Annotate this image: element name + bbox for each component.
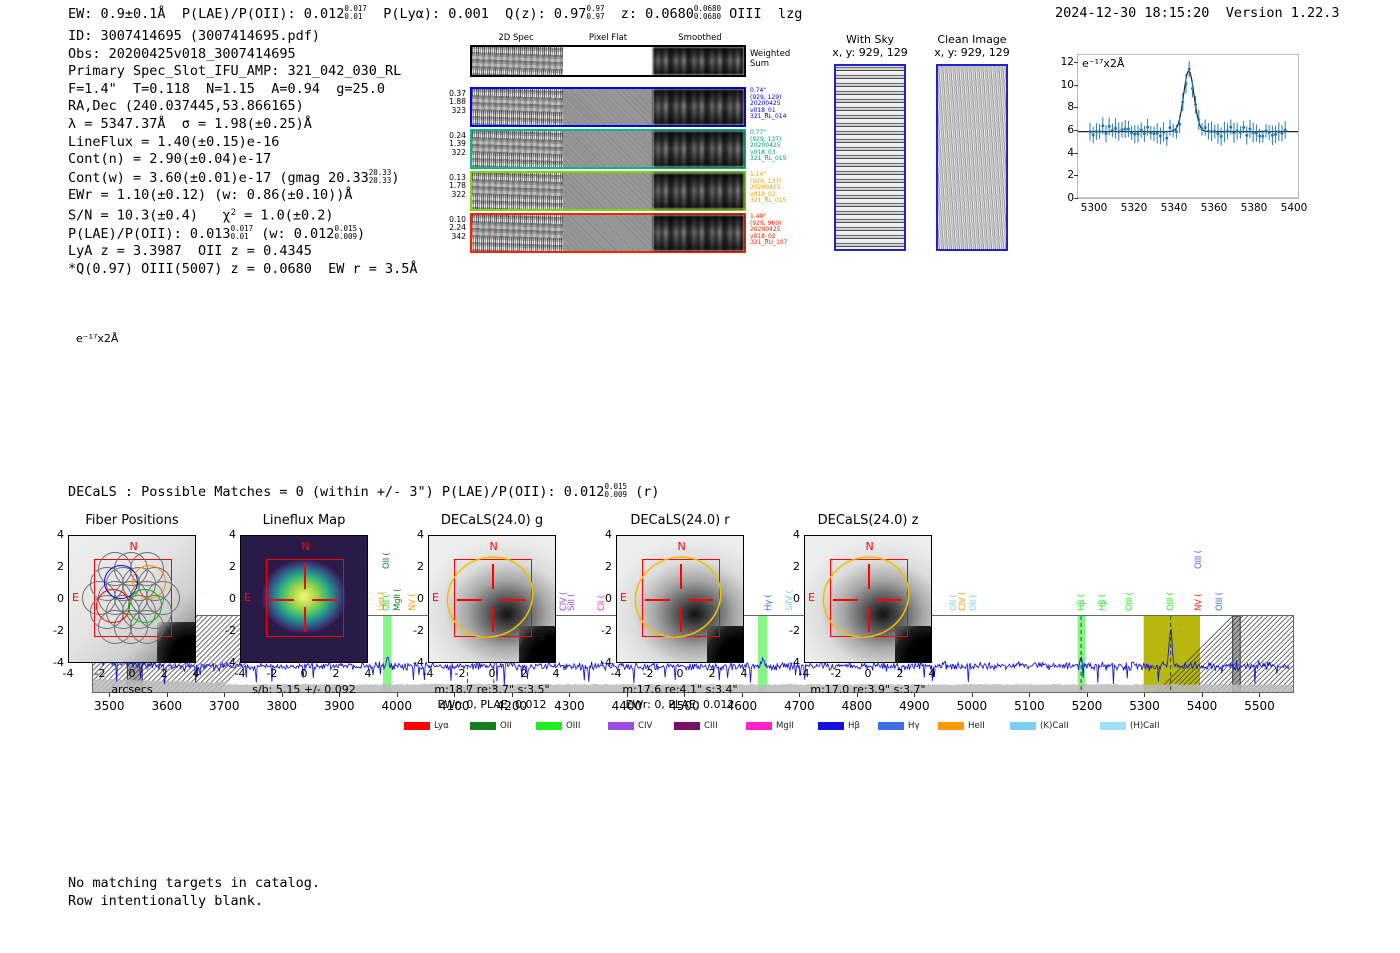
line-zoom-xtick: 5380 xyxy=(1241,202,1268,214)
fiber-2dspec xyxy=(472,173,563,209)
fiber-meta-right: 1.40"(929, 969)20200425v018_02321_RU_107 xyxy=(750,214,805,247)
footer-line-1: No matching targets in catalog. xyxy=(68,874,320,892)
info-ewr: EWr = 1.10(±0.12) (w: 0.86(±0.10))Å xyxy=(68,187,418,205)
cutout-ytick: 2 xyxy=(218,560,236,573)
emission-line-zoom-plot: e⁻¹⁷x2Å 02468101253005320534053605380540… xyxy=(1032,46,1307,231)
cutout-ytick: 0 xyxy=(594,592,612,605)
cutout-ytick: 0 xyxy=(218,592,236,605)
cutout-ytick: 2 xyxy=(46,560,64,573)
header-plae-label: P(LAE)/P(OII): 0.012 xyxy=(182,6,345,22)
sky-panel-title: With Sky xyxy=(828,33,912,46)
cutout-xtick: 0 xyxy=(860,667,876,680)
line-zoom-ytick-mark xyxy=(1074,107,1078,108)
fiber-2dspec xyxy=(472,89,563,125)
info-primary-spec: Primary Spec_Slot_IFU_AMP: 321_042_030_R… xyxy=(68,63,418,81)
line-zoom-units: e⁻¹⁷x2Å xyxy=(1082,57,1124,70)
timestamp: 2024-12-30 18:15:20 xyxy=(1055,5,1209,21)
fiber-stats-left: 0.371.88323 xyxy=(438,90,466,115)
footer-note: No matching targets in catalog. Row inte… xyxy=(68,874,320,910)
cutout-title: DECaLS(24.0) z xyxy=(784,513,952,528)
spec2d-fiber-row xyxy=(470,87,746,127)
cutout-axes: NE xyxy=(804,535,932,663)
cutout-title: DECaLS(24.0) r xyxy=(596,513,764,528)
cutout-xtick: 4 xyxy=(924,667,940,680)
cutout-xtick: -2 xyxy=(92,667,108,680)
cutout-xtick: 4 xyxy=(736,667,752,680)
cutout-sub1: m:18.7 re:3.7" s:3.5" xyxy=(400,683,584,696)
line-zoom-ytick: 12 xyxy=(1048,56,1074,68)
line-zoom-ytick: 4 xyxy=(1048,147,1074,159)
spec2d-fiber-row xyxy=(470,129,746,169)
cutout-xtick: 0 xyxy=(296,667,312,680)
cutout-xtick: -2 xyxy=(264,667,280,680)
fiber-circle-highlight xyxy=(96,589,130,623)
line-zoom-ytick-mark xyxy=(1074,175,1078,176)
cutout-ytick: -2 xyxy=(218,624,236,637)
compass-east: E xyxy=(244,591,251,604)
compass-east: E xyxy=(72,591,79,604)
cutout-xtick: -2 xyxy=(828,667,844,680)
info-obs: Obs: 20200425v018_3007414695 xyxy=(68,46,418,64)
fiber-stats-left: 0.102.24342 xyxy=(438,216,466,241)
line-zoom-ytick-mark xyxy=(1074,153,1078,154)
header-z: z: 0.0680 xyxy=(621,6,694,22)
header-z-errors: 0.06800.0680 xyxy=(694,5,721,21)
cutout-title: Fiber Positions xyxy=(48,513,216,528)
cutout-row: Fiber PositionsNE-4-2024420-2-4arcsecsLi… xyxy=(0,505,1400,735)
cutout-ytick: -4 xyxy=(46,656,64,669)
source-ellipse xyxy=(805,536,931,662)
fiber-pixelflat xyxy=(563,173,654,209)
line-zoom-xtick: 5320 xyxy=(1121,202,1148,214)
cutout-ytick: -4 xyxy=(594,656,612,669)
cutout-xtick: 4 xyxy=(360,667,376,680)
compass-north: N xyxy=(129,540,137,553)
cutout-sub1: m:17.0 re:3.9" s:3.7" xyxy=(776,683,960,696)
cutout-xtick: 4 xyxy=(188,667,204,680)
cutout-sub1: m:17.6 re:4.1" s:3.4" xyxy=(588,683,772,696)
spec2d-column-header-2: Smoothed xyxy=(664,33,736,43)
cutout-xtick: 2 xyxy=(328,667,344,680)
fiber-smoothed xyxy=(653,173,744,209)
spec2d-fiber-row xyxy=(470,171,746,211)
cutout-xtick: 0 xyxy=(484,667,500,680)
line-zoom-xtick: 5300 xyxy=(1081,202,1108,214)
fiber-meta-right: 0.74"(929, 129)20200425v018_01321_RL_014 xyxy=(750,88,805,121)
header-qz: Q(z): 0.97 xyxy=(505,6,586,22)
cutout-ytick: -4 xyxy=(218,656,236,669)
compass-north: N xyxy=(301,540,309,553)
fiber-2dspec xyxy=(472,131,563,167)
fiber-meta-right: 0.77"(929, 137)20200425v018_03321_RL_015 xyxy=(750,130,805,163)
cutout-ytick: 2 xyxy=(782,560,800,573)
cutout-xtick: 4 xyxy=(548,667,564,680)
info-cont-w: Cont(w) = 3.60(±0.01)e-17 (gmag 20.3320.… xyxy=(68,169,418,187)
cutout-ytick: 4 xyxy=(594,528,612,541)
header-ew: EW: 0.9±0.1Å xyxy=(68,6,166,22)
line-zoom-ytick-mark xyxy=(1074,130,1078,131)
fiber-2dspec xyxy=(472,215,563,251)
cutout-ytick: 4 xyxy=(218,528,236,541)
gmag-errors: 20.3320.33 xyxy=(369,169,392,185)
crosshair-left xyxy=(269,599,294,601)
spec2d-column-header-1: Pixel Flat xyxy=(572,33,644,43)
cutout-xtick: 0 xyxy=(124,667,140,680)
fiber-stats-left: 0.131.78322 xyxy=(438,174,466,199)
info-id: ID: 3007414695 (3007414695.pdf) xyxy=(68,28,418,46)
footer-line-2: Row intentionally blank. xyxy=(68,892,320,910)
info-seeing: F=1.4" T=0.118 N=1.15 A=0.94 g=25.0 xyxy=(68,81,418,99)
header-timestamp-block: 2024-12-30 18:15:20 Version 1.22.3 xyxy=(1055,5,1340,21)
decals-plae-errors: 0.0150.009 xyxy=(604,483,627,499)
line-zoom-ytick-mark xyxy=(1074,85,1078,86)
info-plae: P(LAE)/P(OII): 0.0130.0170.01 (w: 0.0120… xyxy=(68,225,418,243)
fiber-pixelflat xyxy=(563,89,654,125)
line-zoom-ytick: 2 xyxy=(1048,169,1074,181)
cutout-axes: NE xyxy=(240,535,368,663)
sky-panel-title: Clean Image xyxy=(930,33,1014,46)
cutout-ytick: 2 xyxy=(406,560,424,573)
sky-panel-coords: x, y: 929, 129 xyxy=(828,46,912,59)
cutout-ytick: -4 xyxy=(406,656,424,669)
sky-panel-coords: x, y: 929, 129 xyxy=(930,46,1014,59)
sky-panel-image xyxy=(834,64,906,251)
spec2d-fiber-row xyxy=(470,213,746,253)
cutout-axes: NE xyxy=(428,535,556,663)
cutout-ytick: -2 xyxy=(782,624,800,637)
info-redshifts: LyA z = 3.3987 OII z = 0.4345 xyxy=(68,243,418,261)
line-zoom-svg xyxy=(1078,55,1298,198)
crosshair-right xyxy=(312,599,337,601)
fiber-circle-highlight xyxy=(128,589,162,623)
cutout-sub1: s/b: 5.15 +/- 0.092 xyxy=(212,683,396,696)
cutout-xtick: 2 xyxy=(516,667,532,680)
fiber-smoothed xyxy=(653,215,744,251)
fiber-meta-right: 1.14"(929, 137)20200425v018_02321_RL_015 xyxy=(750,172,805,205)
cutout-xtick: 2 xyxy=(156,667,172,680)
header-plya: P(Lyα): 0.001 xyxy=(383,6,489,22)
fiber-smoothed xyxy=(653,131,744,167)
info-radec: RA,Dec (240.037445,53.866165) xyxy=(68,98,418,116)
version-label: Version 1.22.3 xyxy=(1226,5,1340,21)
spectrum-units-label: e⁻¹⁷x2Å xyxy=(76,332,118,345)
header-qz-errors: 0.970.97 xyxy=(586,5,604,21)
cutout-ytick: 4 xyxy=(46,528,64,541)
info-sn: S/N = 10.3(±0.4) χ2 = 1.0(±0.2) xyxy=(68,205,418,225)
line-zoom-axes: e⁻¹⁷x2Å 02468101253005320534053605380540… xyxy=(1077,54,1299,199)
cutout-ytick: 4 xyxy=(782,528,800,541)
two-d-spectra-panel: 2D SpecPixel FlatSmoothedWeighted Sum0.3… xyxy=(438,33,813,255)
line-zoom-ytick: 8 xyxy=(1048,101,1074,113)
line-zoom-ytick: 0 xyxy=(1048,192,1074,204)
cutout-ytick: 0 xyxy=(406,592,424,605)
cutout-ytick: -4 xyxy=(782,656,800,669)
crosshair-bottom xyxy=(304,607,306,632)
info-lineflux: LineFlux = 1.40(±0.15)e-16 xyxy=(68,134,418,152)
cutout-xtick: 0 xyxy=(672,667,688,680)
fiber-smoothed xyxy=(653,89,744,125)
line-zoom-ytick-mark xyxy=(1074,62,1078,63)
cutout-title: DECaLS(24.0) g xyxy=(408,513,576,528)
line-zoom-xtick: 5400 xyxy=(1281,202,1308,214)
cutout-xlabel: arcsecs xyxy=(48,683,216,696)
info-lambda: λ = 5347.37Å σ = 1.98(±0.25)Å xyxy=(68,116,418,134)
header-summary: EW: 0.9±0.1Å P(LAE)/P(OII): 0.0120.0170.… xyxy=(68,5,802,22)
cutout-xtick: 2 xyxy=(704,667,720,680)
source-ellipse xyxy=(429,536,555,662)
cutout-ytick: 2 xyxy=(594,560,612,573)
cutout-ytick: -2 xyxy=(46,624,64,637)
source-info-block: ID: 3007414695 (3007414695.pdf) Obs: 202… xyxy=(68,28,418,279)
crosshair-top xyxy=(304,564,306,589)
cutout-ytick: -2 xyxy=(406,624,424,637)
line-zoom-ytick: 6 xyxy=(1048,124,1074,136)
cutout-axes: NE xyxy=(68,535,196,663)
cutout-ytick: 4 xyxy=(406,528,424,541)
fiber-pixelflat xyxy=(563,131,654,167)
weighted-sum-2dspec xyxy=(472,47,563,75)
cutout-xtick: -2 xyxy=(640,667,656,680)
line-zoom-xtick: 5340 xyxy=(1161,202,1188,214)
info-cont-n: Cont(n) = 2.90(±0.04)e-17 xyxy=(68,151,418,169)
weighted-sum-label: Weighted Sum xyxy=(750,49,805,69)
cutout-axes: NE xyxy=(616,535,744,663)
fiber-pixelflat xyxy=(563,215,654,251)
sky-image-panels: With Skyx, y: 929, 129Clean Imagex, y: 9… xyxy=(820,33,1020,258)
decals-header: DECaLS : Possible Matches = 0 (within +/… xyxy=(68,483,660,500)
cutout-title: Lineflux Map xyxy=(220,513,388,528)
source-ellipse xyxy=(617,536,743,662)
line-zoom-ytick: 10 xyxy=(1048,79,1074,91)
full-spectrum-panel: SiII (OVI (CIII (MgII (MgII (SiIV (Lyα (… xyxy=(0,270,1400,470)
cutout-ytick: 0 xyxy=(46,592,64,605)
cutout-ytick: 0 xyxy=(782,592,800,605)
spec2d-column-header-0: 2D Spec xyxy=(480,33,552,43)
cutout-xtick: -2 xyxy=(452,667,468,680)
cutout-xtick: 2 xyxy=(892,667,908,680)
header-plae-errors: 0.0170.01 xyxy=(344,5,367,21)
cutout-ytick: -2 xyxy=(594,624,612,637)
cutout-sub2: EWr: 0, PLAE: 0.012 xyxy=(588,698,772,711)
sky-panel-image xyxy=(936,64,1008,251)
spec2d-weighted-sum-row xyxy=(470,45,746,77)
chisq-exponent: 2 xyxy=(231,208,236,218)
header-flag: lzg xyxy=(778,6,802,22)
plae-w-errors: 0.0150.009 xyxy=(334,225,357,241)
fiber-stats-left: 0.241.39322 xyxy=(438,132,466,157)
weighted-sum-pixelflat xyxy=(563,47,654,75)
header-species: OIII xyxy=(729,6,762,22)
line-zoom-xtick: 5360 xyxy=(1201,202,1228,214)
weighted-sum-smoothed xyxy=(653,47,744,75)
line-zoom-ytick-mark xyxy=(1074,198,1078,199)
plae-errors: 0.0170.01 xyxy=(231,225,254,241)
cutout-sub2: EWr: 0, PLAE: 0.012 xyxy=(400,698,584,711)
